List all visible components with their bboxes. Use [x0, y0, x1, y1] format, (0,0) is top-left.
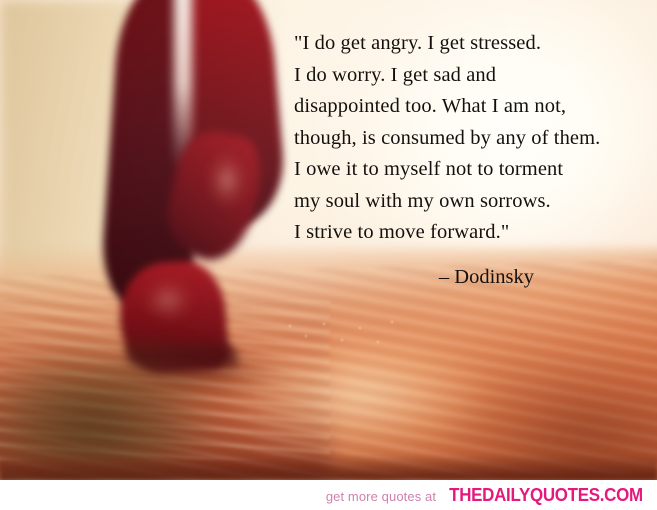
- quote-line: I do worry. I get sad and: [294, 60, 646, 92]
- runner-planted-shoe-highlight: [142, 278, 194, 322]
- quote-line: disappointed too. What I am not,: [294, 91, 646, 123]
- quote-text-block: "I do get angry. I get stressed. I do wo…: [294, 28, 646, 293]
- footer-brand-link[interactable]: THEDAILYQUOTES.COM: [449, 485, 643, 506]
- runner-raised-shoe-highlight: [206, 150, 248, 210]
- footer-bar: get more quotes at THEDAILYQUOTES.COM: [0, 480, 657, 510]
- footer-prefix-text: get more quotes at: [326, 489, 436, 504]
- quote-poster: "I do get angry. I get stressed. I do wo…: [0, 0, 657, 510]
- photo-bottom-dark-band: [0, 454, 657, 480]
- quote-line: my soul with my own sorrows.: [294, 186, 646, 218]
- quote-line: I strive to move forward.": [294, 217, 646, 249]
- quote-line: though, is consumed by any of them.: [294, 123, 646, 155]
- road-speckle-detail: [282, 316, 402, 356]
- quote-line: "I do get angry. I get stressed.: [294, 28, 646, 60]
- quote-line: I owe it to myself not to torment: [294, 154, 646, 186]
- quote-attribution: – Dodinsky: [294, 262, 646, 294]
- background-photo: "I do get angry. I get stressed. I do wo…: [0, 0, 657, 480]
- footer-branding[interactable]: get more quotes at THEDAILYQUOTES.COM: [326, 485, 657, 506]
